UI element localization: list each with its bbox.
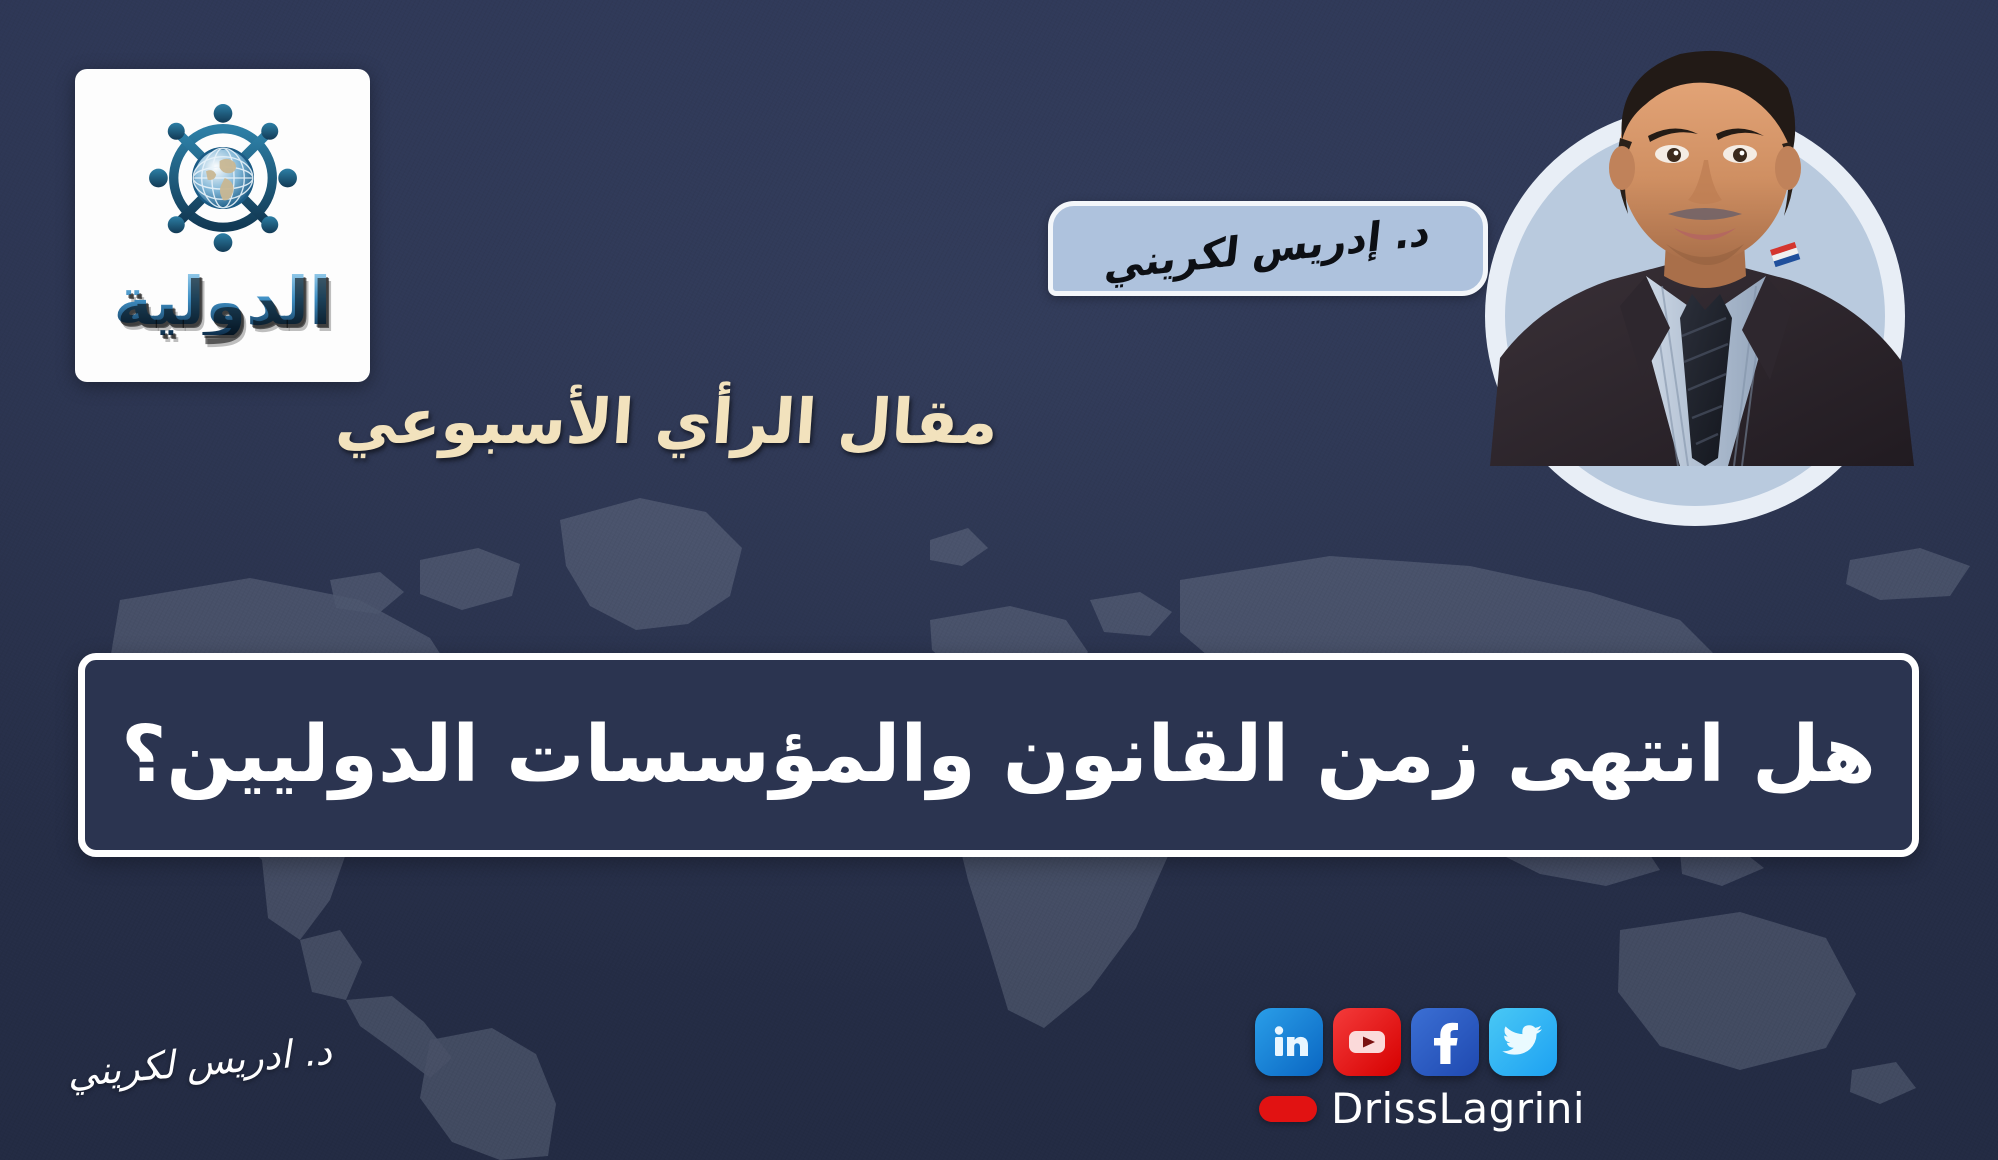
linkedin-icon [1269, 1022, 1309, 1062]
author-portrait [1470, 18, 1940, 466]
headline-text: هل انتهى زمن القانون والمؤسسات الدوليين؟ [121, 710, 1876, 800]
twitter-icon [1502, 1023, 1544, 1061]
section-label: مقال الرأي الأسبوعي [333, 385, 1000, 458]
twitter-button[interactable] [1489, 1008, 1557, 1076]
youtube-button[interactable] [1333, 1008, 1401, 1076]
publication-logo-panel[interactable]: الدولية [75, 69, 370, 382]
social-handle-row: DrissLagrini [1255, 1084, 1585, 1133]
headline-box: هل انتهى زمن القانون والمؤسسات الدوليين؟ [78, 653, 1919, 857]
linkedin-button[interactable] [1255, 1008, 1323, 1076]
ship-wheel-globe-icon [138, 93, 308, 263]
facebook-icon [1425, 1020, 1465, 1064]
youtube-icon [1346, 1021, 1388, 1063]
social-handle: DrissLagrini [1331, 1084, 1585, 1133]
portrait-photo [1470, 18, 1940, 466]
social-icon-row [1255, 1008, 1585, 1076]
poster-canvas: الدولية د. إدريس لكريني [0, 0, 1998, 1160]
logo-wordmark: الدولية [113, 269, 331, 335]
facebook-button[interactable] [1411, 1008, 1479, 1076]
author-name-plaque-text: د. إدريس لكريني [1103, 208, 1434, 289]
social-bar: DrissLagrini [1255, 1008, 1585, 1148]
red-accent-bar [1259, 1096, 1317, 1122]
author-name-plaque: د. إدريس لكريني [1048, 201, 1488, 296]
